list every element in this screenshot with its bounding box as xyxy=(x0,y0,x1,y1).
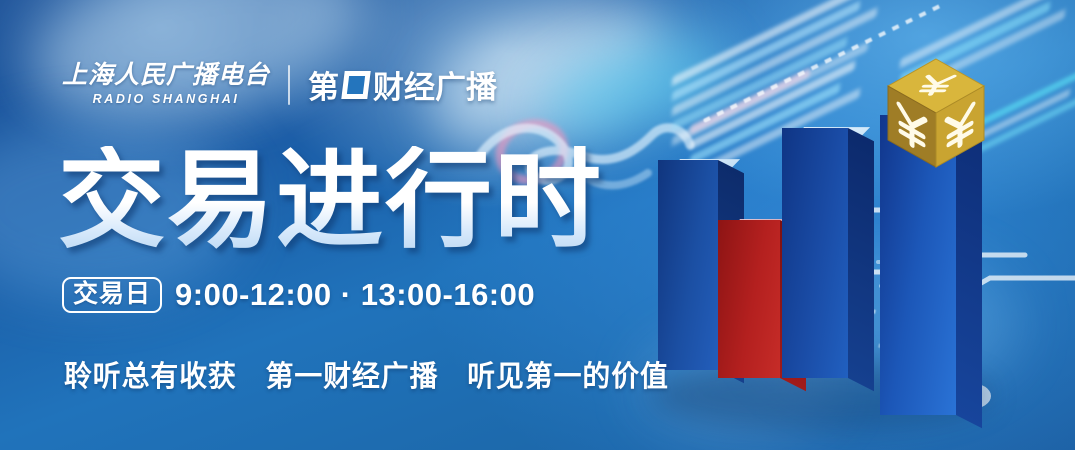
radio-shanghai-logo: 上海人民广播电台 RADIO SHANGHAI xyxy=(62,63,270,106)
yi-square-icon xyxy=(341,71,370,99)
schedule-row: 交易日 9:00-12:00 · 13:00-16:00 xyxy=(62,277,535,313)
channel-suffix: 财经广播 xyxy=(373,62,497,107)
channel-logo: 第 财经广播 xyxy=(308,62,497,107)
isometric-bar-chart-graphic xyxy=(640,30,1075,450)
logo-divider xyxy=(288,65,290,105)
radio-program-banner: 上海人民广播电台 RADIO SHANGHAI 第 财经广播 交易进行时 交易日… xyxy=(0,0,1075,450)
logo-row: 上海人民广播电台 RADIO SHANGHAI 第 财经广播 xyxy=(62,62,497,107)
bar-1 xyxy=(658,160,718,370)
station-name-cn: 上海人民广播电台 xyxy=(62,63,270,89)
bar-2-red xyxy=(718,220,780,378)
channel-prefix: 第 xyxy=(308,62,339,107)
page-title: 交易进行时 xyxy=(58,146,603,255)
bar-3 xyxy=(782,128,848,378)
gold-yen-cube xyxy=(885,57,987,169)
trading-day-badge: 交易日 xyxy=(62,277,162,313)
broadcast-hours: 9:00-12:00 · 13:00-16:00 xyxy=(175,277,535,313)
station-name-en: RADIO SHANGHAI xyxy=(93,92,240,106)
tagline: 聆听总有收获 第一财经广播 听见第一的价值 xyxy=(64,353,669,395)
